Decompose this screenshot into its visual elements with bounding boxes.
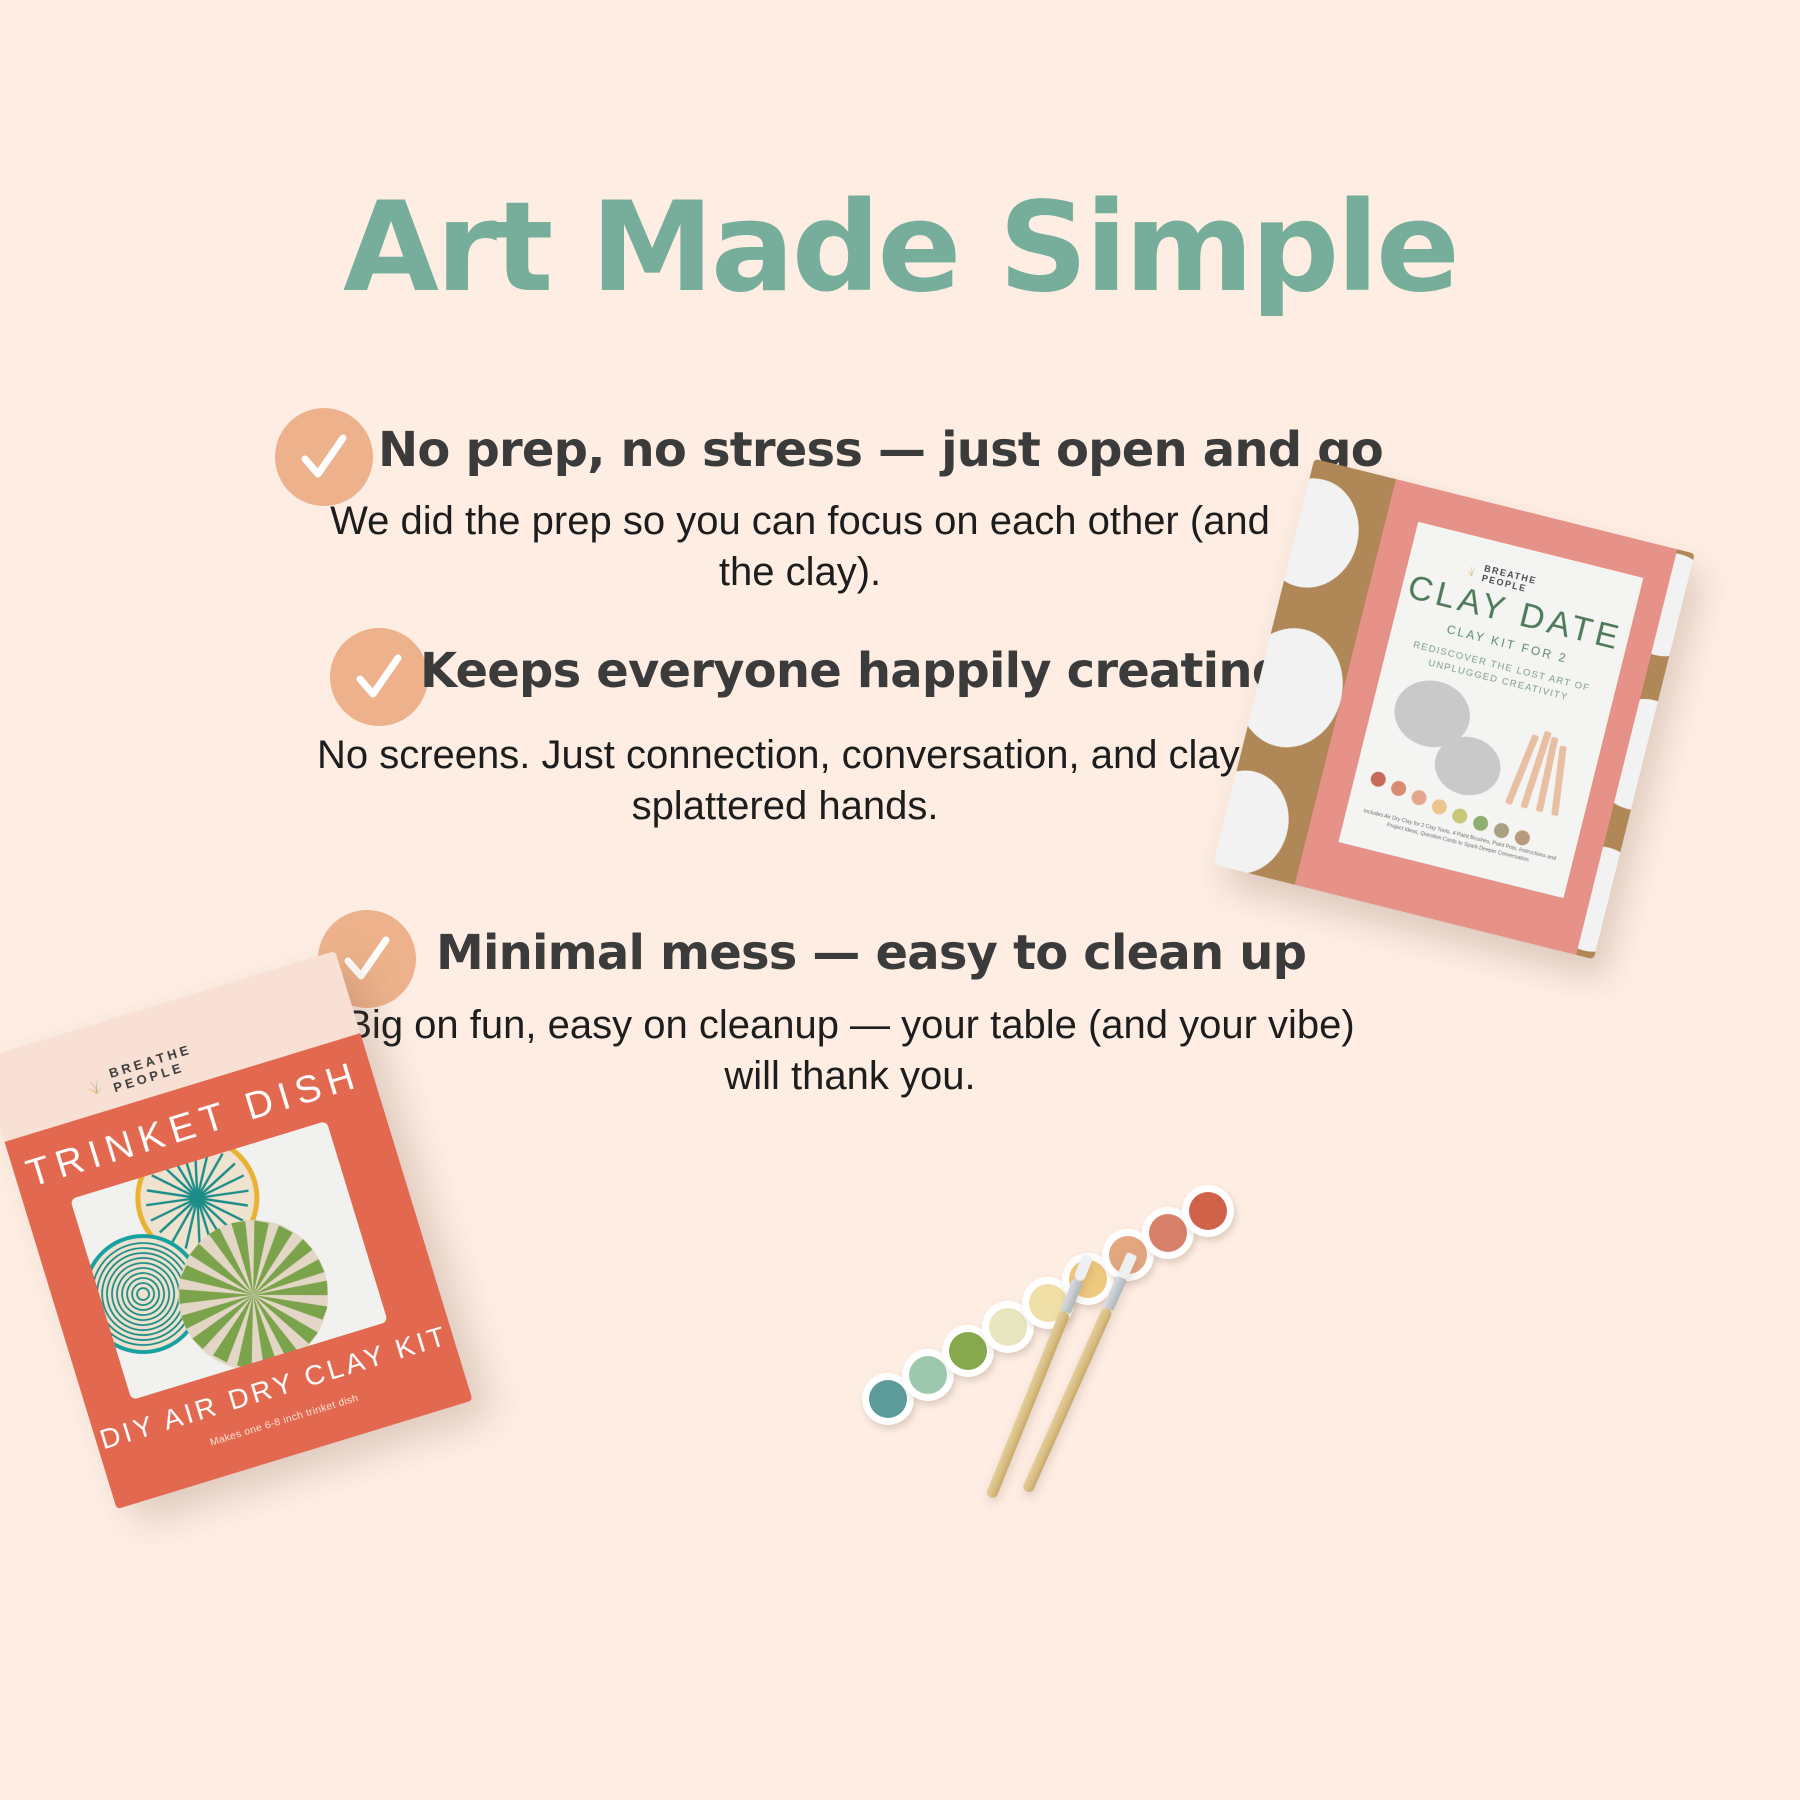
paint-swatch [1390,779,1408,797]
paint-swatch [1430,798,1448,816]
benefit-body: No screens. Just connection, conversatio… [310,730,1260,832]
paint-swatch [1492,822,1510,840]
benefit-body: We did the prep so you can focus on each… [300,496,1300,598]
check-badge [275,408,373,506]
paint-swatch [1410,789,1428,807]
paint-pot-row [862,1185,1242,1445]
benefit-heading: Minimal mess — easy to clean up [436,925,1306,981]
check-icon [330,628,428,726]
paint-swatch [1472,814,1490,832]
poster-canvas: Art Made Simple No prep, no stress — jus… [0,0,1800,1800]
paint-swatch [1451,807,1469,825]
benefit-heading: No prep, no stress — just open and go [378,422,1383,478]
check-icon [275,408,373,506]
paint-swatch [1369,770,1387,788]
benefit-body: Big on fun, easy on cleanup — your table… [320,1000,1380,1102]
page-title: Art Made Simple [0,186,1800,310]
paint-pot [1182,1185,1234,1237]
check-badge [330,628,428,726]
benefit-heading: Keeps everyone happily creating [420,643,1285,699]
leaf-icon [1465,562,1480,578]
